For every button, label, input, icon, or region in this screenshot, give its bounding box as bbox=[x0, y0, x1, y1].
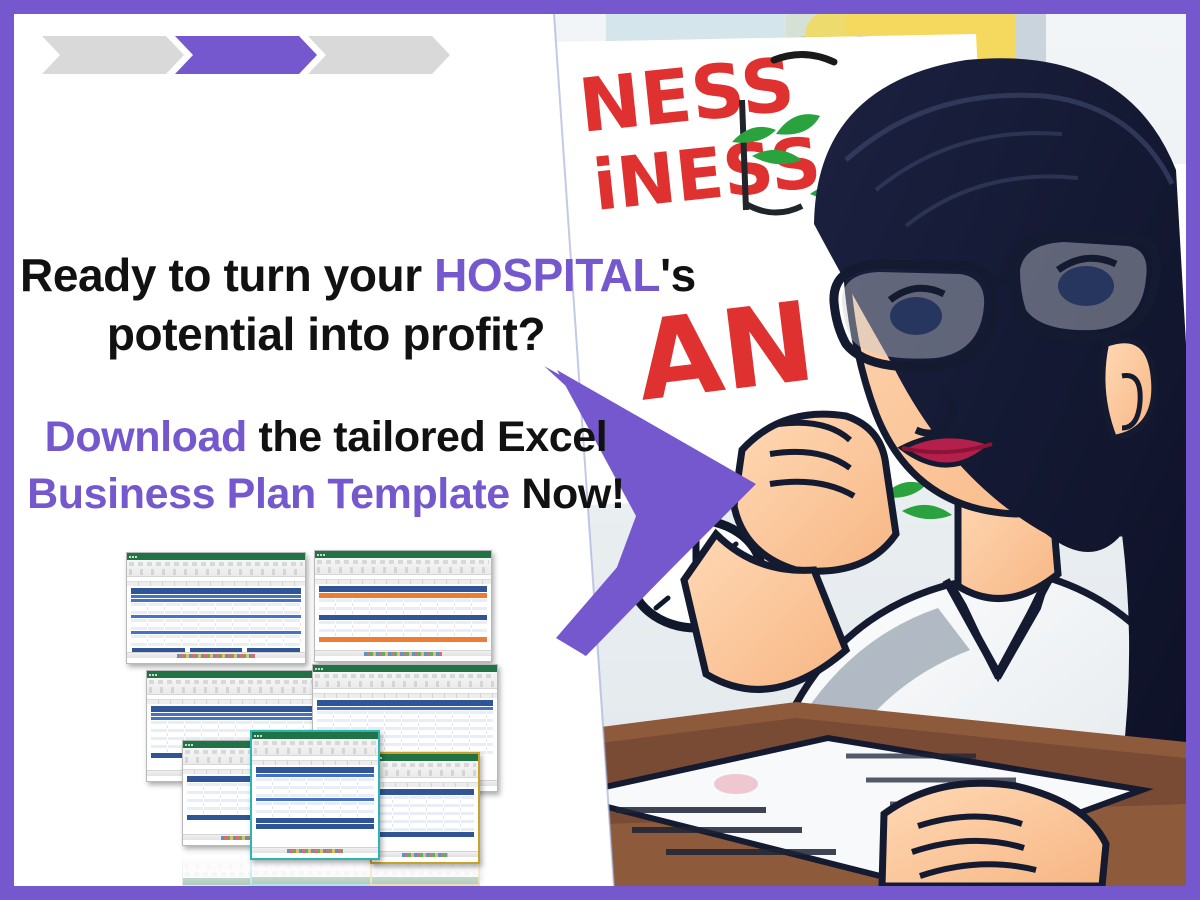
illustration-svg: NESS iNESS AN bbox=[546, 14, 1186, 886]
excel-grid bbox=[372, 783, 478, 857]
cta-template-name[interactable]: Business Plan Template bbox=[27, 470, 510, 518]
excel-ribbon bbox=[147, 678, 333, 695]
excel-ribbon bbox=[315, 558, 491, 575]
excel-ribbon bbox=[127, 560, 305, 577]
subheadline-text-post-1: the tailored Excel bbox=[247, 413, 607, 461]
excel-title-bar bbox=[315, 551, 491, 558]
excel-title-bar bbox=[252, 732, 378, 739]
subheadline-block: Download the tailored Excel Business Pla… bbox=[20, 409, 632, 523]
excel-window-6[interactable] bbox=[250, 730, 380, 860]
headline-block: Ready to turn your HOSPITAL's potential … bbox=[20, 246, 632, 364]
subheadline-line-1: Download the tailored Excel bbox=[20, 409, 632, 466]
excel-window-7[interactable] bbox=[370, 752, 480, 864]
subheadline-text-post-2: Now! bbox=[510, 470, 625, 518]
chevron-step-2-active[interactable] bbox=[175, 36, 317, 74]
excel-ribbon bbox=[252, 739, 378, 756]
headline-line-1: Ready to turn your HOSPITAL's bbox=[20, 246, 632, 305]
excel-title-bar bbox=[127, 553, 305, 560]
excel-window-2[interactable] bbox=[314, 550, 492, 662]
poster-canvas: NESS iNESS AN bbox=[14, 14, 1186, 886]
headline-accent-hospital: HOSPITAL bbox=[434, 249, 660, 301]
illustration-panel: NESS iNESS AN bbox=[546, 14, 1186, 886]
chevron-step-3[interactable] bbox=[308, 36, 450, 74]
cta-download-link[interactable]: Download bbox=[45, 413, 247, 461]
excel-title-bar bbox=[147, 671, 333, 678]
chevron-step-1[interactable] bbox=[42, 36, 184, 74]
excel-ribbon bbox=[372, 761, 478, 778]
headline-text-pre: Ready to turn your bbox=[20, 249, 434, 301]
excel-grid bbox=[315, 580, 491, 656]
excel-ribbon bbox=[313, 672, 497, 689]
excel-template-collage[interactable] bbox=[114, 544, 494, 886]
poster-root: NESS iNESS AN bbox=[0, 0, 1200, 900]
excel-window-1[interactable] bbox=[126, 552, 306, 664]
excel-grid bbox=[252, 761, 378, 853]
headline-line-2: potential into profit? bbox=[20, 305, 632, 364]
subheadline-line-2: Business Plan Template Now! bbox=[20, 466, 632, 523]
excel-grid bbox=[127, 582, 305, 658]
excel-title-bar bbox=[313, 665, 497, 672]
headline-text-post: 's bbox=[660, 249, 696, 301]
excel-title-bar bbox=[372, 754, 478, 761]
progress-chevrons bbox=[42, 36, 372, 76]
